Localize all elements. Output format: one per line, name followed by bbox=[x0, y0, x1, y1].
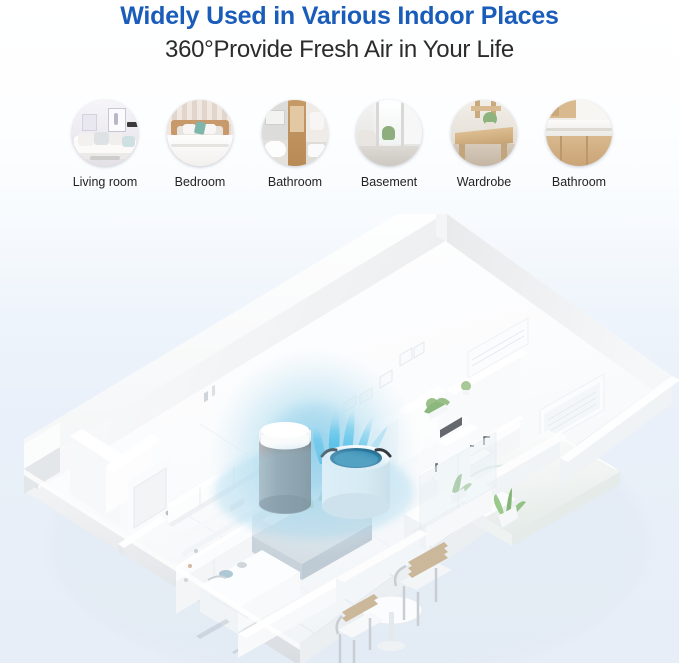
product-infographic: Widely Used in Various Indoor Places 360… bbox=[0, 0, 679, 663]
thumbnail-basement[interactable]: Basement bbox=[341, 100, 437, 189]
page-title: Widely Used in Various Indoor Places bbox=[0, 2, 679, 31]
bathroom2-photo-icon bbox=[546, 100, 612, 166]
wardrobe-photo-icon bbox=[451, 100, 517, 166]
use-case-thumbnail-row: Living room Bedroom bbox=[0, 100, 679, 192]
living-room-photo-icon bbox=[72, 100, 138, 166]
glow-floor-overlay bbox=[214, 446, 414, 538]
thumbnail-bedroom[interactable]: Bedroom bbox=[152, 100, 248, 189]
thumbnail-label: Wardrobe bbox=[436, 175, 532, 189]
thumbnail-label: Living room bbox=[57, 175, 153, 189]
bathroom-photo-icon bbox=[262, 100, 328, 166]
page-subtitle: 360°Provide Fresh Air in Your Life bbox=[0, 36, 679, 64]
thumbnail-bathroom-2[interactable]: Bathroom bbox=[531, 100, 627, 189]
thumbnail-label: Bedroom bbox=[152, 175, 248, 189]
thumbnail-wardrobe[interactable]: Wardrobe bbox=[436, 100, 532, 189]
thumbnail-label: Bathroom bbox=[247, 175, 343, 189]
thumbnail-label: Basement bbox=[341, 175, 437, 189]
floorplan-svg bbox=[0, 214, 679, 663]
isometric-apartment-floorplan bbox=[0, 214, 679, 663]
bedroom-photo-icon bbox=[167, 100, 233, 166]
thumbnail-label: Bathroom bbox=[531, 175, 627, 189]
basement-photo-icon bbox=[356, 100, 422, 166]
thumbnail-living-room[interactable]: Living room bbox=[57, 100, 153, 189]
thumbnail-bathroom-1[interactable]: Bathroom bbox=[247, 100, 343, 189]
